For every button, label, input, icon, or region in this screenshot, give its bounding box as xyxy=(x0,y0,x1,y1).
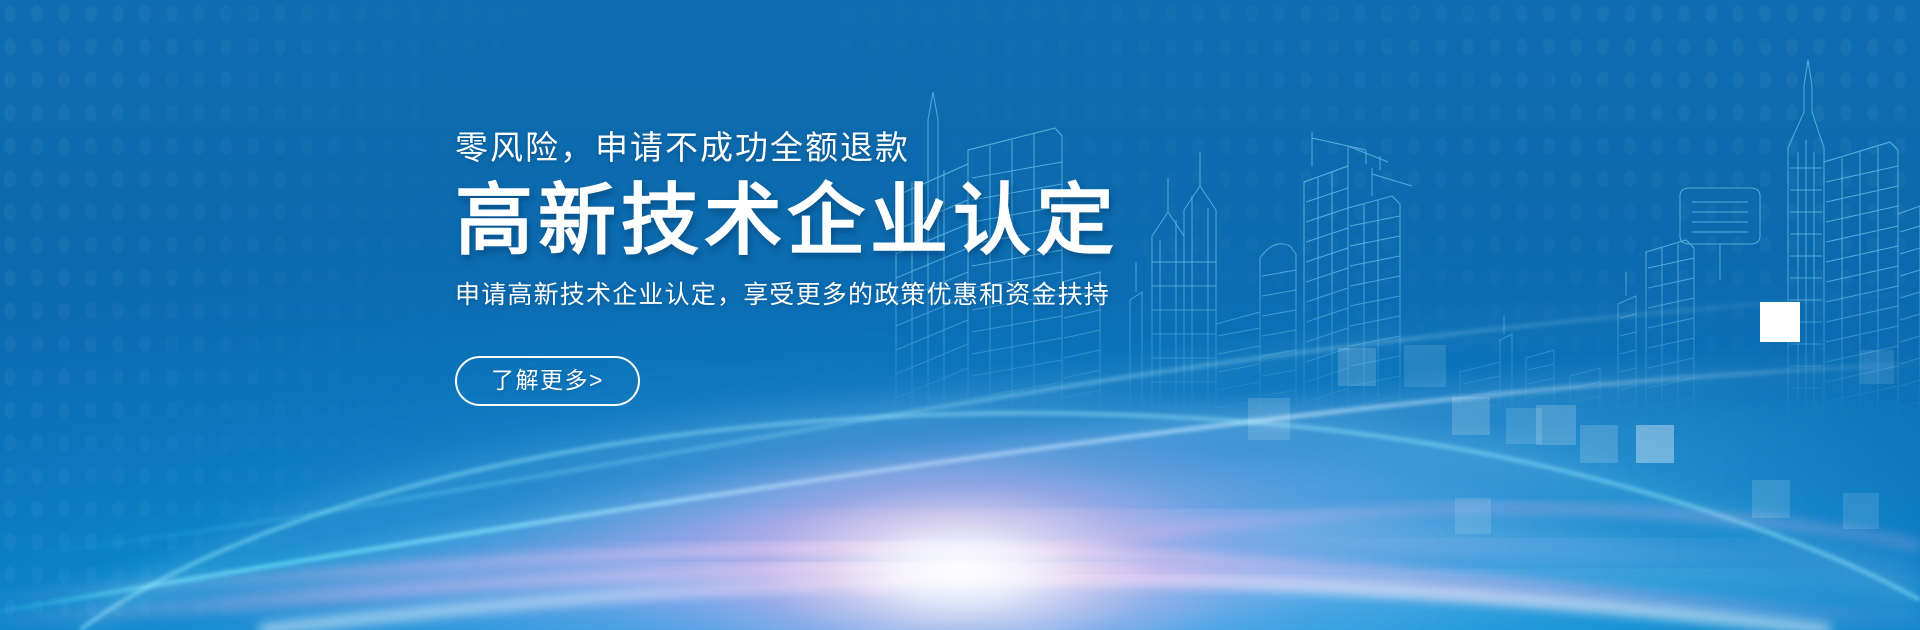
floating-square xyxy=(1536,405,1576,445)
floating-square xyxy=(1580,425,1618,463)
floating-square xyxy=(1404,345,1446,387)
floating-square xyxy=(1752,480,1790,518)
banner-headline: 高新技术企业认定 xyxy=(455,178,1235,262)
banner-content: 零风险，申请不成功全额退款 高新技术企业认定 申请高新技术企业认定，享受更多的政… xyxy=(455,128,1235,406)
floating-square xyxy=(1455,498,1491,534)
floating-square xyxy=(1860,350,1894,384)
promo-banner: 零风险，申请不成功全额退款 高新技术企业认定 申请高新技术企业认定，享受更多的政… xyxy=(0,0,1920,630)
learn-more-button[interactable]: 了解更多> xyxy=(455,356,640,405)
floating-square-solid xyxy=(1760,302,1800,342)
floating-square xyxy=(1843,493,1879,529)
banner-subtitle: 申请高新技术企业认定，享受更多的政策优惠和资金扶持 xyxy=(455,279,1235,312)
banner-tagline: 零风险，申请不成功全额退款 xyxy=(455,128,1235,168)
floating-square xyxy=(1636,425,1674,463)
floating-square xyxy=(1338,348,1376,386)
floating-square xyxy=(1452,397,1490,435)
floating-square xyxy=(1248,398,1290,440)
cta-wrapper: 了解更多> xyxy=(455,356,1235,405)
